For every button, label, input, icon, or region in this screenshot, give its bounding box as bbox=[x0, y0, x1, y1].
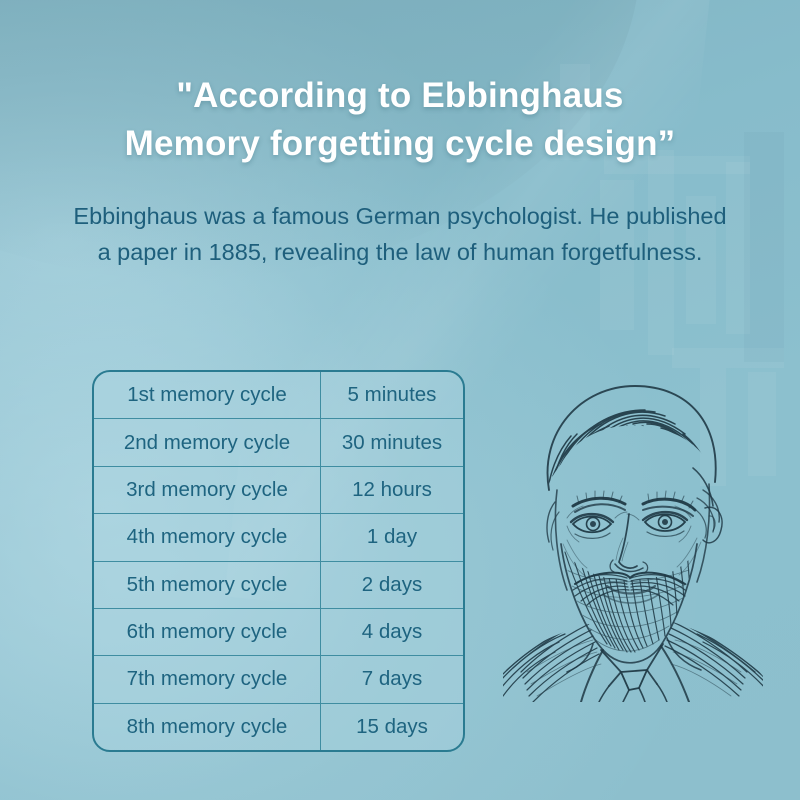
cycle-interval-cell: 1 day bbox=[321, 514, 463, 560]
table-row: 8th memory cycle15 days bbox=[94, 704, 463, 750]
poster-canvas: "According to Ebbinghaus Memory forgetti… bbox=[0, 0, 800, 800]
table-row: 3rd memory cycle12 hours bbox=[94, 467, 463, 514]
cycle-label-cell: 8th memory cycle bbox=[94, 704, 321, 750]
watermark-bar-6 bbox=[672, 348, 784, 368]
table-row: 7th memory cycle7 days bbox=[94, 656, 463, 703]
table-row: 5th memory cycle2 days bbox=[94, 562, 463, 609]
ebbinghaus-portrait bbox=[497, 372, 769, 702]
cycle-label-cell: 7th memory cycle bbox=[94, 656, 321, 702]
cycle-interval-cell: 5 minutes bbox=[321, 372, 463, 418]
table-row: 4th memory cycle1 day bbox=[94, 514, 463, 561]
table-row: 1st memory cycle5 minutes bbox=[94, 372, 463, 419]
table-row: 6th memory cycle4 days bbox=[94, 609, 463, 656]
cycle-interval-cell: 4 days bbox=[321, 609, 463, 655]
page-subtitle: Ebbinghaus was a famous German psycholog… bbox=[18, 198, 782, 270]
watermark-bar-7 bbox=[700, 368, 726, 486]
watermark-bar-8 bbox=[748, 372, 776, 476]
cycle-interval-cell: 15 days bbox=[321, 704, 463, 750]
cycle-interval-cell: 2 days bbox=[321, 562, 463, 608]
cycle-label-cell: 4th memory cycle bbox=[94, 514, 321, 560]
page-title: "According to Ebbinghaus Memory forgetti… bbox=[0, 72, 800, 168]
cycle-label-cell: 6th memory cycle bbox=[94, 609, 321, 655]
cycle-label-cell: 5th memory cycle bbox=[94, 562, 321, 608]
table-row: 2nd memory cycle30 minutes bbox=[94, 419, 463, 466]
memory-cycle-table: 1st memory cycle5 minutes2nd memory cycl… bbox=[92, 370, 465, 752]
cycle-label-cell: 1st memory cycle bbox=[94, 372, 321, 418]
cycle-interval-cell: 7 days bbox=[321, 656, 463, 702]
cycle-interval-cell: 30 minutes bbox=[321, 419, 463, 465]
cycle-label-cell: 3rd memory cycle bbox=[94, 467, 321, 513]
cycle-label-cell: 2nd memory cycle bbox=[94, 419, 321, 465]
cycle-interval-cell: 12 hours bbox=[321, 467, 463, 513]
